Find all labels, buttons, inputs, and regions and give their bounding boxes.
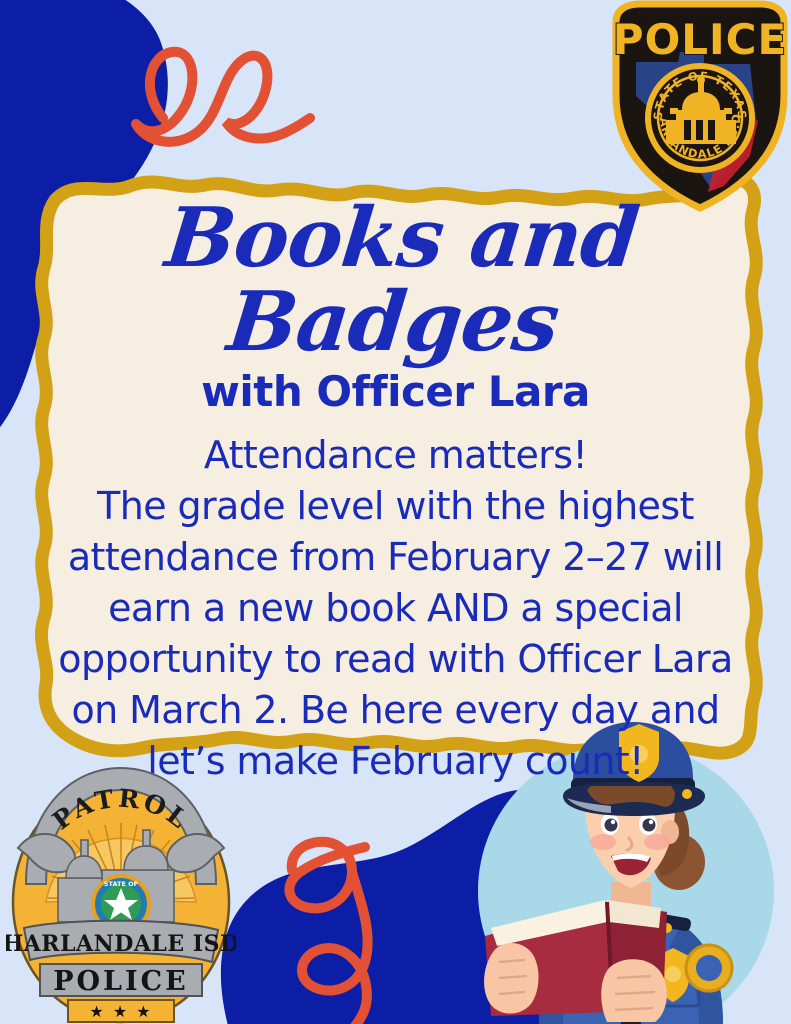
officer-blush-left <box>590 834 616 850</box>
officer-eye-glint-left <box>611 820 615 824</box>
officer-right-hand <box>601 959 667 1022</box>
officer-chest-badge-center <box>665 966 681 982</box>
poster-canvas: Books and Badges with Officer Lara Atten… <box>0 0 791 1024</box>
patrol-badge: PATROL <box>6 752 236 1024</box>
orange-loop-squiggle-bottom <box>289 842 367 1024</box>
card-text-block: Books and Badges with Officer Lara Atten… <box>40 196 751 787</box>
patch-police-text: POLICE <box>613 15 787 64</box>
orange-loop-squiggle-top <box>136 52 310 142</box>
badge-seal-top-text: STATE OF <box>104 880 138 888</box>
page-subtitle: with Officer Lara <box>40 368 751 416</box>
body-paragraph: Attendance matters! The grade level with… <box>40 430 751 787</box>
officer-pupil-left <box>605 819 618 832</box>
page-title: Books and Badges <box>31 196 760 364</box>
officer-pupil-right <box>643 819 656 832</box>
officer-eye-glint-right <box>649 820 653 824</box>
patch-building-windows <box>684 120 715 140</box>
badge-stars-text: ★ ★ ★ <box>89 1002 152 1021</box>
shoulder-patch: POLICE STATE OF TEXAS HARLA <box>600 0 791 215</box>
badge-police-text: POLICE <box>53 966 189 997</box>
officer-cap-side-button <box>682 789 692 799</box>
badge-harlandale-isd-text: HARLANDALE ISD <box>6 931 236 957</box>
officer-shoulder-patch-inner <box>696 955 722 981</box>
officer-blush-right <box>644 834 670 850</box>
